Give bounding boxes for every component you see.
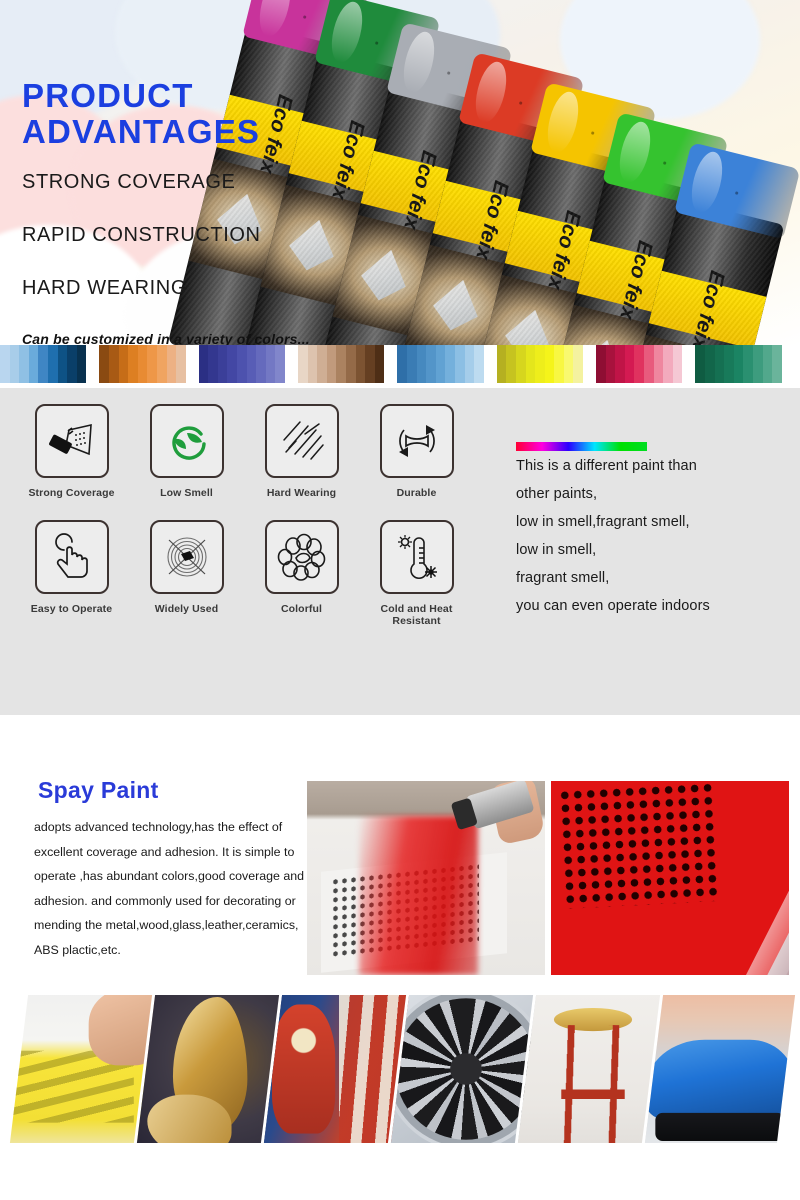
hero-note: Can be customized in a variety of colors…	[22, 331, 310, 345]
description-body: adopts advanced technology,has the effec…	[34, 815, 306, 962]
color-swatch	[705, 345, 715, 383]
feature-label: Easy to Operate	[31, 603, 112, 616]
cap-gloss	[327, 0, 368, 65]
feature-label: Colorful	[281, 603, 322, 616]
thermometer-icon	[380, 520, 454, 594]
cap-gloss	[399, 29, 440, 95]
can-brand-text: Eco feix	[398, 148, 441, 232]
color-swatch	[167, 345, 177, 383]
feature-item-target-globe: Widely Used	[129, 520, 244, 628]
feature-label: Low Smell	[160, 487, 213, 500]
spray-can-icon	[35, 404, 109, 478]
swatch-group-browns	[298, 345, 384, 383]
color-swatch	[673, 345, 683, 383]
color-swatch	[218, 345, 228, 383]
feature-label: Cold and Heat Resistant	[359, 603, 474, 628]
color-swatch	[615, 345, 625, 383]
swatch-gap	[86, 345, 99, 383]
color-swatch	[10, 345, 20, 383]
color-swatch	[199, 345, 209, 383]
color-swatch	[119, 345, 129, 383]
section-title: Spay Paint	[38, 777, 159, 804]
description-section: Spay Paint adopts advanced technology,ha…	[0, 715, 800, 990]
swatch-group-yellows	[497, 345, 583, 383]
hero-text-block: PRODUCT ADVANTAGES STRONG COVERAGE RAPID…	[22, 78, 310, 345]
cap-gloss	[615, 119, 656, 185]
color-swatch	[772, 345, 782, 383]
feature-label: Hard Wearing	[267, 487, 336, 500]
color-swatch	[474, 345, 484, 383]
color-swatch	[308, 345, 318, 383]
color-swatch	[0, 345, 10, 383]
can-brand-text: Eco feix	[470, 178, 513, 262]
target-globe-icon	[150, 520, 224, 594]
color-swatch	[625, 345, 635, 383]
application-gallery	[0, 990, 800, 1145]
color-swatch	[38, 345, 48, 383]
feature-item-spray-can: Strong Coverage	[14, 404, 129, 500]
swatch-group-greens	[695, 345, 781, 383]
color-swatch	[298, 345, 308, 383]
color-swatch	[606, 345, 616, 383]
color-swatch	[266, 345, 276, 383]
can-label: Eco feix	[649, 271, 767, 345]
color-swatch	[753, 345, 763, 383]
feature-text-line: you can even operate indoors	[516, 593, 786, 619]
color-swatch	[356, 345, 366, 383]
color-swatch	[465, 345, 475, 383]
swatch-group-steel	[397, 345, 483, 383]
color-swatch	[317, 345, 327, 383]
color-swatch	[426, 345, 436, 383]
color-swatch	[346, 345, 356, 383]
cap-gloss	[255, 0, 296, 39]
feature-text-line: fragrant smell,	[516, 565, 786, 591]
color-swatch	[535, 345, 545, 383]
color-swatch	[596, 345, 606, 383]
color-swatch	[247, 345, 257, 383]
swatch-group-blues	[0, 345, 86, 383]
feature-label: Durable	[397, 487, 437, 500]
color-swatch	[397, 345, 407, 383]
color-swatch	[365, 345, 375, 383]
color-swatch	[109, 345, 119, 383]
feature-item-thermometer: Cold and Heat Resistant	[359, 520, 474, 628]
swatch-gap	[583, 345, 596, 383]
color-swatch	[99, 345, 109, 383]
swatch-gap	[384, 345, 397, 383]
feature-item-flower-cluster: Colorful	[244, 520, 359, 628]
color-swatch-strip	[0, 345, 800, 383]
photo-spraying-panel	[307, 781, 545, 975]
color-swatch	[516, 345, 526, 383]
color-swatch	[436, 345, 446, 383]
can-brand-text: Eco feix	[542, 208, 585, 292]
color-swatch	[67, 345, 77, 383]
can-brand-text: Eco feix	[686, 268, 729, 345]
hero-bullet-2: RAPID CONSTRUCTION	[22, 215, 310, 256]
color-swatch	[375, 345, 385, 383]
red-spray-mist	[359, 816, 478, 975]
feature-label: Strong Coverage	[28, 487, 114, 500]
swatch-gap	[484, 345, 497, 383]
color-swatch	[644, 345, 654, 383]
page-title-line1: PRODUCT	[22, 78, 310, 114]
color-swatch	[695, 345, 705, 383]
feature-item-rotate-arrows: Durable	[359, 404, 474, 500]
color-swatch	[573, 345, 583, 383]
color-swatch	[157, 345, 167, 383]
swatch-gap	[285, 345, 298, 383]
can-brand-text: Eco feix	[326, 118, 369, 202]
color-swatch	[763, 345, 773, 383]
color-swatch	[138, 345, 148, 383]
feature-item-scratch-lines: Hard Wearing	[244, 404, 359, 500]
feature-label: Widely Used	[155, 603, 218, 616]
hand-tap-icon	[35, 520, 109, 594]
color-swatch	[336, 345, 346, 383]
page-title-line2: ADVANTAGES	[22, 114, 310, 150]
color-swatch	[128, 345, 138, 383]
color-swatch	[208, 345, 218, 383]
color-swatch	[654, 345, 664, 383]
swatch-group-indigos	[199, 345, 285, 383]
hero-bullet-1: STRONG COVERAGE	[22, 162, 310, 203]
color-swatch	[227, 345, 237, 383]
cap-gloss	[687, 149, 728, 215]
color-swatch	[327, 345, 337, 383]
feature-text-line: low in smell,fragrant smell,	[516, 509, 786, 535]
panel-highlight	[712, 818, 789, 975]
scratch-lines-icon	[265, 404, 339, 478]
color-swatch	[58, 345, 68, 383]
swatch-group-oranges	[99, 345, 185, 383]
rainbow-divider	[516, 442, 647, 451]
color-swatch	[526, 345, 536, 383]
photo-red-panel	[551, 781, 789, 975]
color-swatch	[545, 345, 555, 383]
rotate-arrows-icon	[380, 404, 454, 478]
eco-leaf-icon	[150, 404, 224, 478]
color-swatch	[554, 345, 564, 383]
color-swatch	[497, 345, 507, 383]
color-swatch	[48, 345, 58, 383]
cap-gloss	[471, 59, 512, 125]
swatch-gap	[186, 345, 199, 383]
color-swatch	[275, 345, 285, 383]
feature-icon-row: Easy to OperateWidely UsedColorfulCold a…	[14, 500, 474, 628]
blue-car-photo	[642, 995, 798, 1143]
feature-item-hand-tap: Easy to Operate	[14, 520, 129, 628]
color-swatch	[506, 345, 516, 383]
feature-item-eco-leaf: Low Smell	[129, 404, 244, 500]
color-swatch	[455, 345, 465, 383]
color-swatch	[724, 345, 734, 383]
color-swatch	[663, 345, 673, 383]
color-swatch	[237, 345, 247, 383]
tile-blue-sports-car	[642, 995, 798, 1143]
can-brand-text: Eco feix	[614, 238, 657, 322]
color-swatch	[564, 345, 574, 383]
color-swatch	[176, 345, 186, 383]
feature-icon-grid: Strong CoverageLow SmellHard WearingDura…	[14, 404, 474, 628]
color-swatch	[634, 345, 644, 383]
hero-section: Eco feixEco feixEco feixEco feixEco feix…	[0, 0, 800, 345]
color-swatch	[256, 345, 266, 383]
swatch-gap	[682, 345, 695, 383]
color-swatch	[734, 345, 744, 383]
feature-text-line: low in smell,	[516, 537, 786, 563]
color-swatch	[29, 345, 39, 383]
hero-bullet-3: HARD WEARING	[22, 268, 310, 309]
swatch-group-reds	[596, 345, 682, 383]
color-swatch	[417, 345, 427, 383]
red-panel-scene	[551, 781, 789, 975]
spray-scene	[307, 781, 545, 975]
color-swatch	[147, 345, 157, 383]
color-swatch	[743, 345, 753, 383]
color-swatch	[445, 345, 455, 383]
product-page: Eco feixEco feixEco feixEco feixEco feix…	[0, 0, 800, 1200]
cap-gloss	[543, 89, 584, 155]
color-swatch	[715, 345, 725, 383]
feature-text-line: other paints,	[516, 481, 786, 507]
color-swatch	[407, 345, 417, 383]
feature-icon-row: Strong CoverageLow SmellHard WearingDura…	[14, 404, 474, 500]
feature-text-block: This is a different paint than other pai…	[516, 442, 786, 619]
color-swatch	[77, 345, 87, 383]
feature-text-line: This is a different paint than	[516, 453, 786, 479]
flower-cluster-icon	[265, 520, 339, 594]
color-swatch	[19, 345, 29, 383]
